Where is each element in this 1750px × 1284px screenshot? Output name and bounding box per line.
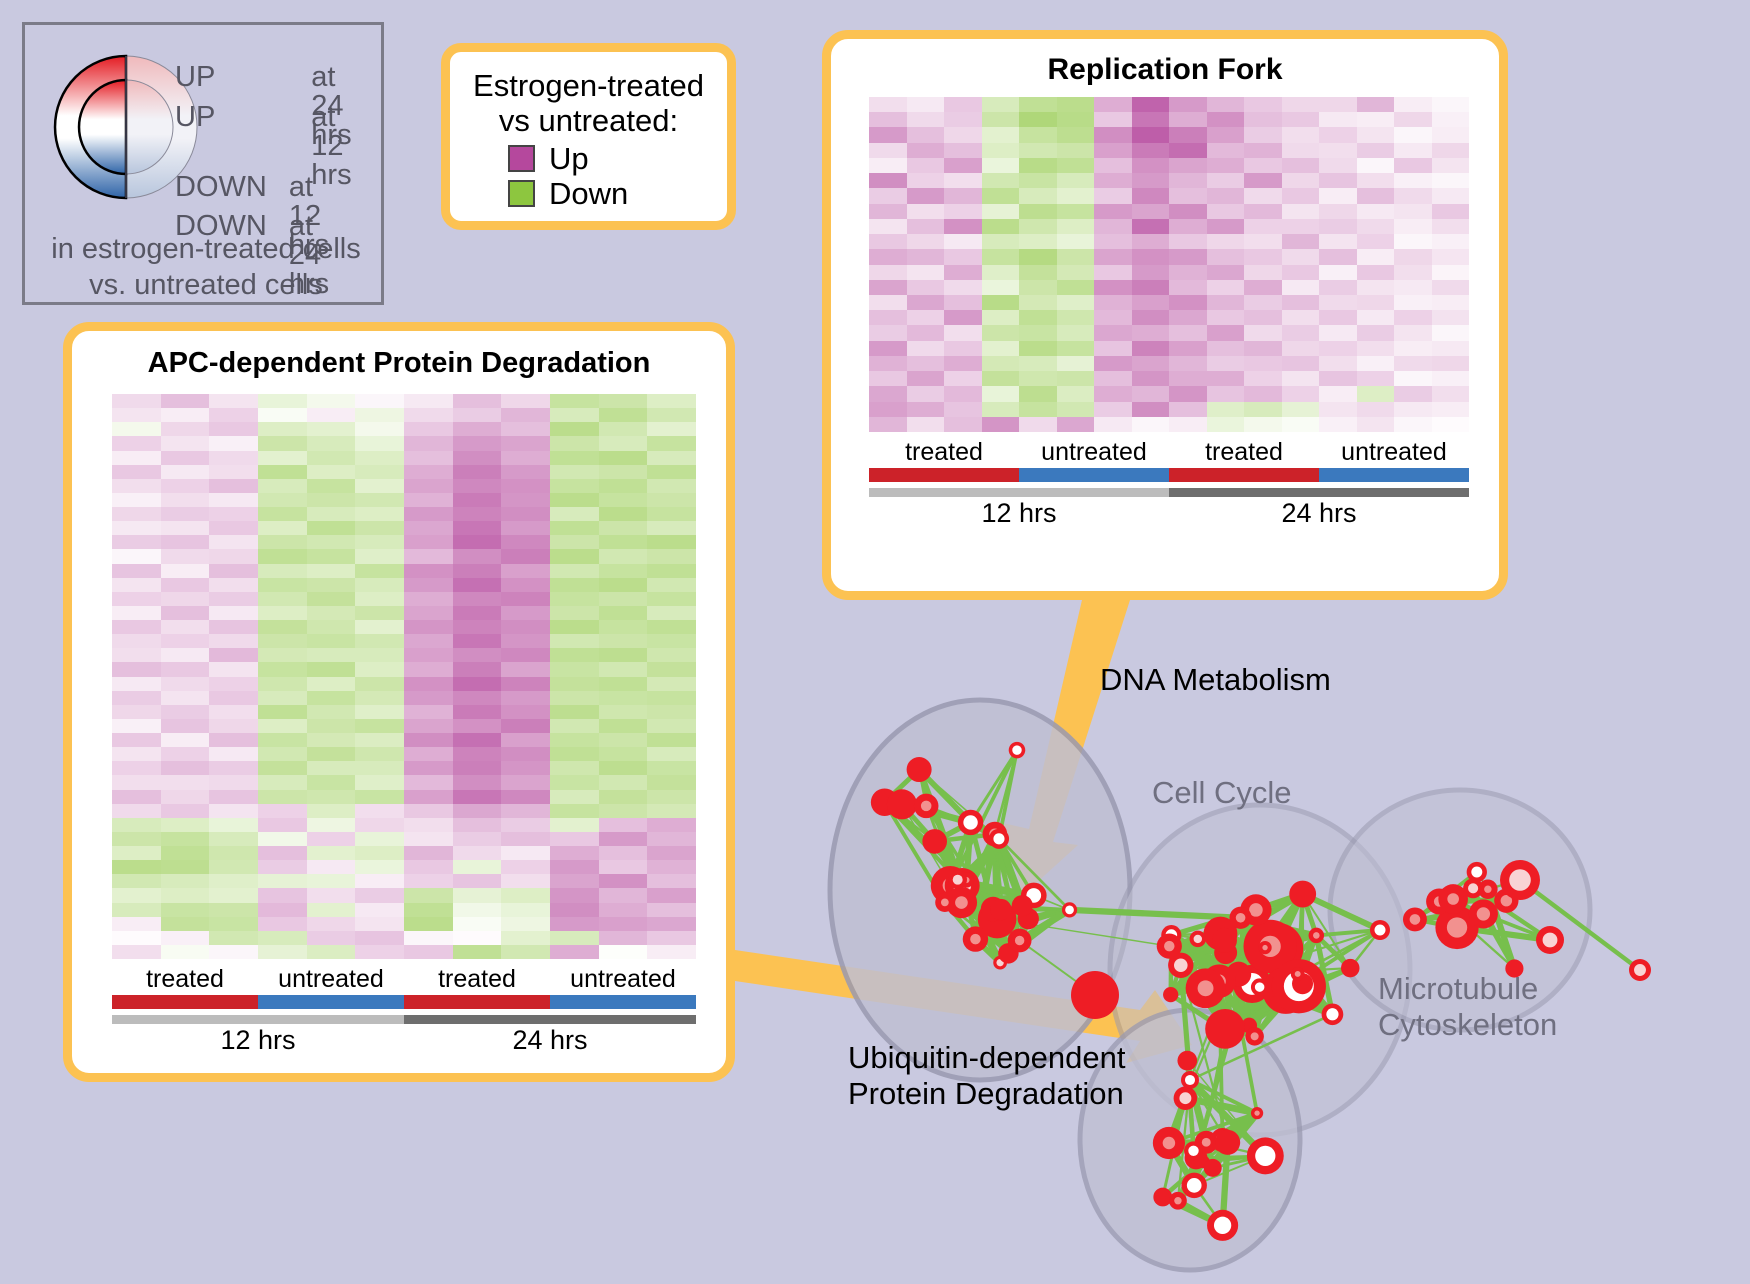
heatmap-cell [404, 493, 453, 507]
heatmap-cell [550, 691, 599, 705]
heatmap-cell [1132, 310, 1170, 325]
network-node[interactable] [1251, 1107, 1263, 1119]
apc-degradation-panel: APC-dependent Protein Degradation treate… [63, 322, 735, 1082]
timepoint-bar-segment [869, 488, 1169, 497]
heatmap-cell [209, 422, 258, 436]
heatmap-cell [944, 204, 982, 219]
heatmap-cell [869, 402, 907, 417]
heatmap-cell [1244, 97, 1282, 112]
heatmap-cell [599, 451, 648, 465]
network-node[interactable] [1062, 902, 1077, 917]
heatmap-cell [1169, 265, 1207, 280]
network-node[interactable] [1181, 1071, 1199, 1089]
heatmap-cell [599, 394, 648, 408]
heatmap-cell [1057, 173, 1095, 188]
network-node[interactable] [1012, 895, 1033, 916]
heatmap-cell [307, 620, 356, 634]
heatmap-cell [944, 371, 982, 386]
heatmap-cell [550, 860, 599, 874]
heatmap-cell [404, 578, 453, 592]
heatmap-cell [647, 564, 696, 578]
heatmap-cell [550, 606, 599, 620]
heatmap-cell [1207, 356, 1245, 371]
heatmap-cell [404, 804, 453, 818]
network-node[interactable] [935, 893, 954, 912]
heatmap-cell [1357, 371, 1395, 386]
heatmap-cell [1132, 265, 1170, 280]
heatmap-cell [501, 790, 550, 804]
heatmap-cell [501, 408, 550, 422]
heatmap-cell [453, 408, 502, 422]
heatmap-cell [355, 648, 404, 662]
heatmap-cell [404, 775, 453, 789]
network-node[interactable] [1071, 971, 1119, 1019]
heatmap-cell [404, 394, 453, 408]
heatmap-cell [1019, 249, 1057, 264]
heatmap-cell [982, 97, 1020, 112]
heatmap-cell [599, 634, 648, 648]
heatmap-cell [907, 143, 945, 158]
heatmap-cell [1432, 325, 1470, 340]
heatmap-cell [1357, 234, 1395, 249]
heatmap-cell [599, 408, 648, 422]
estrogen-legend-title: Estrogen-treated vs untreated: [450, 68, 727, 139]
heatmap-cell [1057, 310, 1095, 325]
network-node[interactable] [1322, 1003, 1344, 1025]
heatmap-cell [453, 394, 502, 408]
heatmap-cell [1244, 249, 1282, 264]
heatmap-cell [307, 564, 356, 578]
network-node[interactable] [1163, 987, 1178, 1002]
network-node[interactable] [1207, 1210, 1238, 1241]
heatmap-cell [355, 945, 404, 959]
network-node[interactable] [1291, 967, 1305, 981]
heatmap-cell [161, 747, 210, 761]
network-node[interactable] [1174, 1086, 1198, 1110]
heatmap-cell [453, 606, 502, 620]
heatmap-cell [1019, 265, 1057, 280]
heatmap-cell [1132, 188, 1170, 203]
heatmap-cell [453, 945, 502, 959]
heatmap-cell [404, 408, 453, 422]
heatmap-cell [501, 860, 550, 874]
heatmap-cell [501, 606, 550, 620]
heatmap-cell [869, 127, 907, 142]
heatmap-cell [907, 204, 945, 219]
heatmap-cell [161, 465, 210, 479]
heatmap-cell [599, 479, 648, 493]
heatmap-cell [355, 761, 404, 775]
heatmap-cell [453, 917, 502, 931]
heatmap-cell [112, 549, 161, 563]
heatmap-cell [907, 127, 945, 142]
heatmap-cell [112, 436, 161, 450]
network-node[interactable] [948, 870, 967, 889]
heatmap-cell [647, 521, 696, 535]
heatmap-cell [1319, 371, 1357, 386]
heatmap-cell [161, 874, 210, 888]
heatmap-cell [550, 634, 599, 648]
heatmap-cell [112, 648, 161, 662]
timepoint-bar-segment [112, 1015, 404, 1024]
network-node[interactable] [1205, 1009, 1245, 1049]
heatmap-cell [209, 436, 258, 450]
treatment-bar-segment [869, 468, 1019, 482]
network-node[interactable] [907, 757, 932, 782]
network-node[interactable] [1008, 929, 1032, 953]
heatmap-cell [209, 507, 258, 521]
heatmap-cell [453, 818, 502, 832]
heatmap-cell [982, 219, 1020, 234]
replication-fork-axis: treated untreated treated untreated 12 h… [869, 440, 1469, 527]
heatmap-cell [112, 945, 161, 959]
heatmap-cell [550, 578, 599, 592]
heatmap-cell [1244, 280, 1282, 295]
heatmap-cell [1132, 325, 1170, 340]
heatmap-cell [161, 903, 210, 917]
replication-fork-title: Replication Fork [831, 53, 1499, 87]
heatmap-cell [1319, 280, 1357, 295]
heatmap-cell [1282, 97, 1320, 112]
heatmap-cell [599, 436, 648, 450]
heatmap-cell [307, 578, 356, 592]
heatmap-cell [209, 903, 258, 917]
heatmap-cell [258, 917, 307, 931]
network-node[interactable] [922, 829, 947, 854]
heatmap-cell [1057, 280, 1095, 295]
heatmap-cell [944, 188, 982, 203]
heatmap-cell [647, 677, 696, 691]
heatmap-cell [501, 422, 550, 436]
heatmap-cell [869, 417, 907, 432]
heatmap-cell [209, 804, 258, 818]
heatmap-cell [453, 436, 502, 450]
heatmap-cell [161, 592, 210, 606]
treatment-bar-segment [1169, 468, 1319, 482]
heatmap-cell [1244, 265, 1282, 280]
heatmap-cell [1432, 234, 1470, 249]
heatmap-cell [258, 874, 307, 888]
heatmap-cell [550, 549, 599, 563]
heatmap-cell [1169, 249, 1207, 264]
heatmap-cell [1057, 356, 1095, 371]
network-node[interactable] [1438, 884, 1468, 914]
heatmap-cell [907, 356, 945, 371]
heatmap-cell [1019, 188, 1057, 203]
heatmap-cell [1394, 188, 1432, 203]
heatmap-cell [1244, 356, 1282, 371]
heatmap-cell [258, 846, 307, 860]
heatmap-cell [1357, 143, 1395, 158]
heatmap-cell [907, 402, 945, 417]
network-node[interactable] [1169, 1192, 1187, 1210]
heatmap-cell [501, 479, 550, 493]
heatmap-cell [869, 219, 907, 234]
heatmap-cell [550, 733, 599, 747]
heatmap-cell [112, 747, 161, 761]
heatmap-cell [1244, 173, 1282, 188]
heatmap-cell [209, 479, 258, 493]
network-node[interactable] [1258, 941, 1271, 954]
group-label: untreated [1019, 440, 1169, 465]
heatmap-cell [453, 648, 502, 662]
heatmap-cell [355, 903, 404, 917]
heatmap-cell [112, 677, 161, 691]
heatmap-cell [209, 578, 258, 592]
heatmap-cell [453, 790, 502, 804]
heatmap-cell [404, 564, 453, 578]
network-node[interactable] [1186, 968, 1226, 1008]
heatmap-cell [1169, 371, 1207, 386]
heatmap-cell [1432, 219, 1470, 234]
heatmap-cell [404, 747, 453, 761]
heatmap-cell [1432, 386, 1470, 401]
heatmap-cell [599, 747, 648, 761]
heatmap-cell [1057, 112, 1095, 127]
estrogen-legend-item-up: Up [508, 143, 727, 174]
heatmap-cell [599, 549, 648, 563]
network-node[interactable] [1153, 1127, 1185, 1159]
network-node[interactable] [914, 794, 939, 819]
heatmap-cell [258, 775, 307, 789]
heatmap-cell [453, 804, 502, 818]
network-node[interactable] [1341, 959, 1360, 978]
heatmap-cell [112, 479, 161, 493]
heatmap-cell [550, 719, 599, 733]
heatmap-cell [1207, 219, 1245, 234]
network-node[interactable] [1204, 1159, 1222, 1177]
heatmap-cell [501, 691, 550, 705]
heatmap-cell [907, 265, 945, 280]
network-node[interactable] [1245, 1027, 1264, 1046]
heatmap-cell [307, 761, 356, 775]
heatmap-cell [1132, 234, 1170, 249]
estrogen-title-line-1: Estrogen-treated [450, 68, 727, 103]
heatmap-cell [944, 402, 982, 417]
heatmap-cell [112, 451, 161, 465]
heatmap-cell [1094, 356, 1132, 371]
network-node[interactable] [1153, 1188, 1172, 1207]
heatmap-cell [355, 408, 404, 422]
heatmap-cell [112, 564, 161, 578]
network-node[interactable] [1251, 978, 1268, 995]
network-node[interactable] [990, 899, 1011, 920]
network-node[interactable] [1184, 1141, 1203, 1160]
heatmap-cell [307, 493, 356, 507]
replication-fork-heatmap [869, 97, 1469, 432]
heatmap-cell [501, 804, 550, 818]
heatmap-cell [1244, 295, 1282, 310]
network-node[interactable] [1289, 881, 1316, 908]
heatmap-cell [1319, 310, 1357, 325]
heatmap-cell [1169, 127, 1207, 142]
heatmap-cell [550, 804, 599, 818]
heatmap-cell [1319, 204, 1357, 219]
heatmap-cell [982, 265, 1020, 280]
network-node[interactable] [1212, 928, 1237, 953]
heatmap-cell [307, 860, 356, 874]
network-node[interactable] [1009, 742, 1026, 759]
heatmap-cell [355, 493, 404, 507]
heatmap-cell [209, 521, 258, 535]
heatmap-cell [1394, 341, 1432, 356]
heatmap-cell [1094, 341, 1132, 356]
heatmap-cell [355, 394, 404, 408]
heatmap-cell [1094, 310, 1132, 325]
heatmap-cell [1319, 112, 1357, 127]
heatmap-cell [1207, 280, 1245, 295]
heatmap-cell [1319, 234, 1357, 249]
cluster-label-microtubule-cytoskeleton: Microtubule Cytoskeleton [1378, 971, 1557, 1042]
network-node[interactable] [887, 789, 917, 819]
heatmap-cell [161, 917, 210, 931]
heatmap-cell [647, 394, 696, 408]
heatmap-cell [307, 535, 356, 549]
heatmap-cell [1432, 127, 1470, 142]
heatmap-cell [1394, 417, 1432, 432]
heatmap-cell [355, 874, 404, 888]
heatmap-cell [599, 931, 648, 945]
heatmap-cell [1207, 417, 1245, 432]
heatmap-cell [404, 677, 453, 691]
heatmap-cell [647, 775, 696, 789]
heatmap-cell [1282, 417, 1320, 432]
heatmap-cell [1244, 310, 1282, 325]
heatmap-cell [1207, 371, 1245, 386]
heatmap-cell [550, 408, 599, 422]
heatmap-cell [209, 564, 258, 578]
heatmap-cell [550, 662, 599, 676]
heatmap-cell [647, 917, 696, 931]
network-node[interactable] [1403, 907, 1427, 931]
heatmap-cell [1132, 402, 1170, 417]
heatmap-cell [258, 945, 307, 959]
heatmap-cell [869, 280, 907, 295]
ring-legend-caption: in estrogen-treated cells vs. untreated … [25, 231, 387, 304]
heatmap-cell [1019, 280, 1057, 295]
estrogen-legend-item-down: Down [508, 178, 727, 209]
heatmap-cell [209, 620, 258, 634]
heatmap-cell [209, 677, 258, 691]
heatmap-cell [453, 451, 502, 465]
heatmap-cell [944, 234, 982, 249]
heatmap-cell [112, 832, 161, 846]
heatmap-cell [1019, 158, 1057, 173]
heatmap-cell [1019, 386, 1057, 401]
network-node[interactable] [1469, 899, 1498, 928]
heatmap-cell [258, 818, 307, 832]
heatmap-cell [599, 818, 648, 832]
network-node[interactable] [1190, 931, 1207, 948]
treatment-bar-segment [258, 995, 404, 1009]
heatmap-cell [1394, 219, 1432, 234]
heatmap-cell [982, 280, 1020, 295]
heatmap-cell [1019, 219, 1057, 234]
heatmap-cell [453, 761, 502, 775]
heatmap-cell [647, 493, 696, 507]
heatmap-cell [355, 578, 404, 592]
heatmap-cell [1319, 325, 1357, 340]
heatmap-cell [1244, 112, 1282, 127]
heatmap-cell [1207, 249, 1245, 264]
network-node[interactable] [1370, 920, 1390, 940]
heatmap-cell [307, 705, 356, 719]
heatmap-cell [258, 465, 307, 479]
ring-key: DOWN [175, 173, 267, 202]
heatmap-cell [599, 507, 648, 521]
heatmap-cell [209, 818, 258, 832]
heatmap-cell [1432, 356, 1470, 371]
heatmap-cell [501, 733, 550, 747]
heatmap-cell [258, 719, 307, 733]
heatmap-cell [112, 493, 161, 507]
heatmap-cell [599, 592, 648, 606]
heatmap-cell [1019, 402, 1057, 417]
heatmap-cell [209, 747, 258, 761]
heatmap-cell [1244, 371, 1282, 386]
heatmap-cell [355, 931, 404, 945]
heatmap-cell [404, 719, 453, 733]
treatment-bar-segment [1019, 468, 1169, 482]
network-node[interactable] [1629, 959, 1651, 981]
network-node[interactable] [1247, 1137, 1284, 1174]
heatmap-cell [1357, 158, 1395, 173]
heatmap-cell [907, 325, 945, 340]
heatmap-cell [550, 846, 599, 860]
network-node[interactable] [1215, 1130, 1240, 1155]
heatmap-cell [599, 860, 648, 874]
network-node[interactable] [1181, 1173, 1206, 1198]
network-node[interactable] [1229, 907, 1251, 929]
heatmap-cell [599, 945, 648, 959]
heatmap-cell [1282, 234, 1320, 249]
heatmap-cell [209, 394, 258, 408]
network-node[interactable] [989, 829, 1009, 849]
network-node[interactable] [1536, 926, 1564, 954]
heatmap-cell [1394, 143, 1432, 158]
heatmap-cell [453, 549, 502, 563]
group-label: untreated [550, 967, 696, 992]
network-node[interactable] [958, 810, 983, 835]
network-node[interactable] [1309, 928, 1324, 943]
heatmap-cell [355, 634, 404, 648]
network-node[interactable] [1177, 1051, 1197, 1071]
heatmap-cell [209, 888, 258, 902]
heatmap-cell [982, 188, 1020, 203]
heatmap-cell [453, 535, 502, 549]
network-node[interactable] [963, 926, 988, 951]
heatmap-cell [982, 234, 1020, 249]
heatmap-cell [404, 790, 453, 804]
heatmap-cell [550, 422, 599, 436]
network-node[interactable] [1500, 860, 1540, 900]
heatmap-cell [209, 705, 258, 719]
heatmap-cell [599, 874, 648, 888]
heatmap-cell [307, 832, 356, 846]
heatmap-cell [944, 386, 982, 401]
heatmap-cell [453, 592, 502, 606]
heatmap-cell [404, 479, 453, 493]
heatmap-cell [453, 705, 502, 719]
heatmap-cell [982, 112, 1020, 127]
network-node[interactable] [1168, 953, 1193, 978]
heatmap-cell [161, 804, 210, 818]
heatmap-cell [1319, 341, 1357, 356]
heatmap-cell [1169, 417, 1207, 432]
ring-key: UP [175, 63, 215, 92]
heatmap-cell [258, 677, 307, 691]
heatmap-cell [307, 634, 356, 648]
